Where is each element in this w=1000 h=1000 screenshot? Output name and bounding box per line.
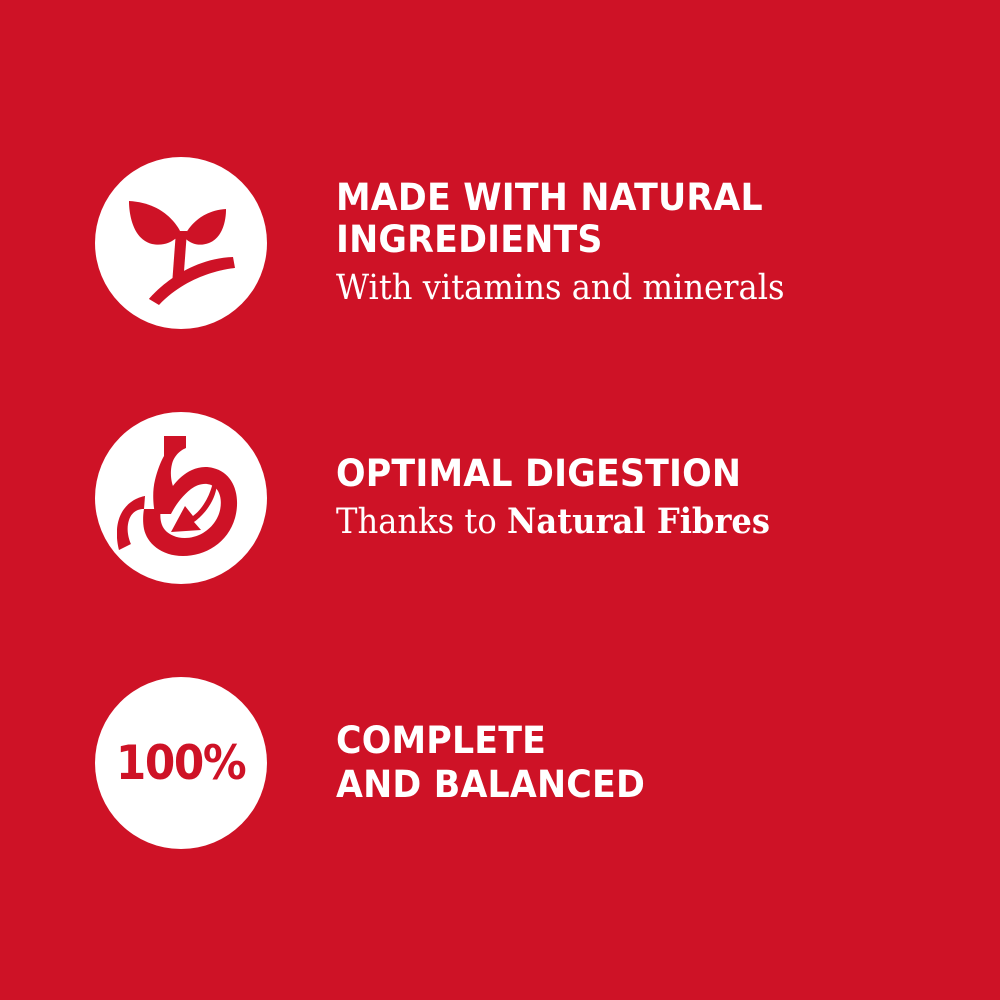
sprout-plant-icon — [119, 181, 243, 305]
feature-panel: MADE WITH NATURAL INGREDIENTS With vitam… — [0, 0, 1000, 1000]
feature-subline-strong: Natural Fibres — [507, 501, 770, 542]
feature-headline: MADE WITH NATURAL INGREDIENTS — [336, 177, 919, 261]
stomach-digestion-icon-badge — [95, 412, 267, 584]
feature-headline: COMPLETE AND BALANCED — [336, 719, 919, 806]
feature-text-block: MADE WITH NATURAL INGREDIENTS With vitam… — [336, 157, 956, 329]
feature-row: MADE WITH NATURAL INGREDIENTS With vitam… — [0, 157, 1000, 329]
feature-headline: OPTIMAL DIGESTION — [336, 453, 919, 495]
feature-row: OPTIMAL DIGESTION Thanks to Natural Fibr… — [0, 412, 1000, 584]
feature-subline-prefix: Thanks to — [336, 502, 507, 542]
feature-subline: Thanks to Natural Fibres — [336, 501, 906, 543]
percent-badge-icon-badge: 100% — [95, 677, 267, 849]
feature-subline: With vitamins and minerals — [336, 267, 906, 309]
feature-text-block: OPTIMAL DIGESTION Thanks to Natural Fibr… — [336, 412, 956, 584]
feature-row: 100% COMPLETE AND BALANCED — [0, 677, 1000, 849]
stomach-digestion-icon — [117, 434, 245, 562]
percent-badge-label: 100% — [116, 740, 245, 787]
feature-text-block: COMPLETE AND BALANCED — [336, 677, 956, 849]
feature-subline-prefix: With vitamins and minerals — [336, 268, 785, 308]
sprout-plant-icon-badge — [95, 157, 267, 329]
